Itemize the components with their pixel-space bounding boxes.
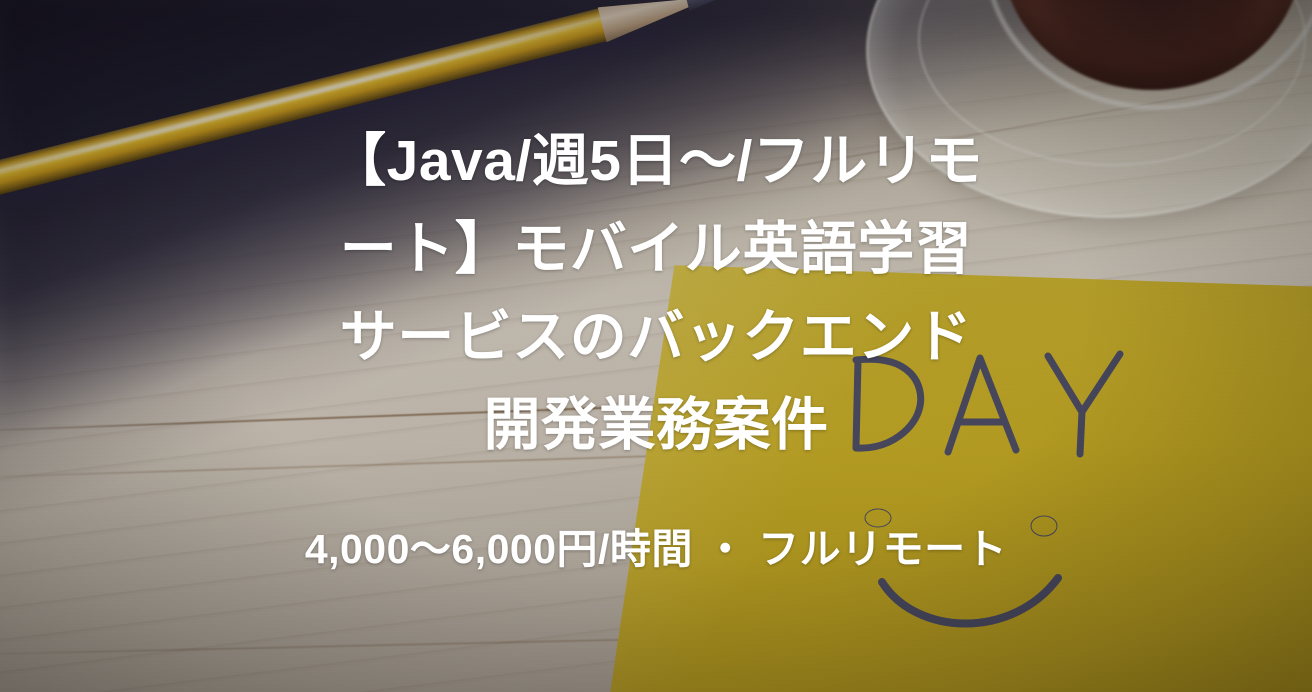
hero-content: 【Java/週5日〜/フルリモート】モバイル英語学習サービスのバックエンド開発業…	[0, 0, 1312, 692]
hero-subtitle: 4,000〜6,000円/時間 ・ フルリモート	[305, 525, 1007, 574]
page-title: 【Java/週5日〜/フルリモート】モバイル英語学習サービスのバックエンド開発業…	[316, 117, 996, 469]
hero-banner: 【Java/週5日〜/フルリモート】モバイル英語学習サービスのバックエンド開発業…	[0, 0, 1312, 692]
